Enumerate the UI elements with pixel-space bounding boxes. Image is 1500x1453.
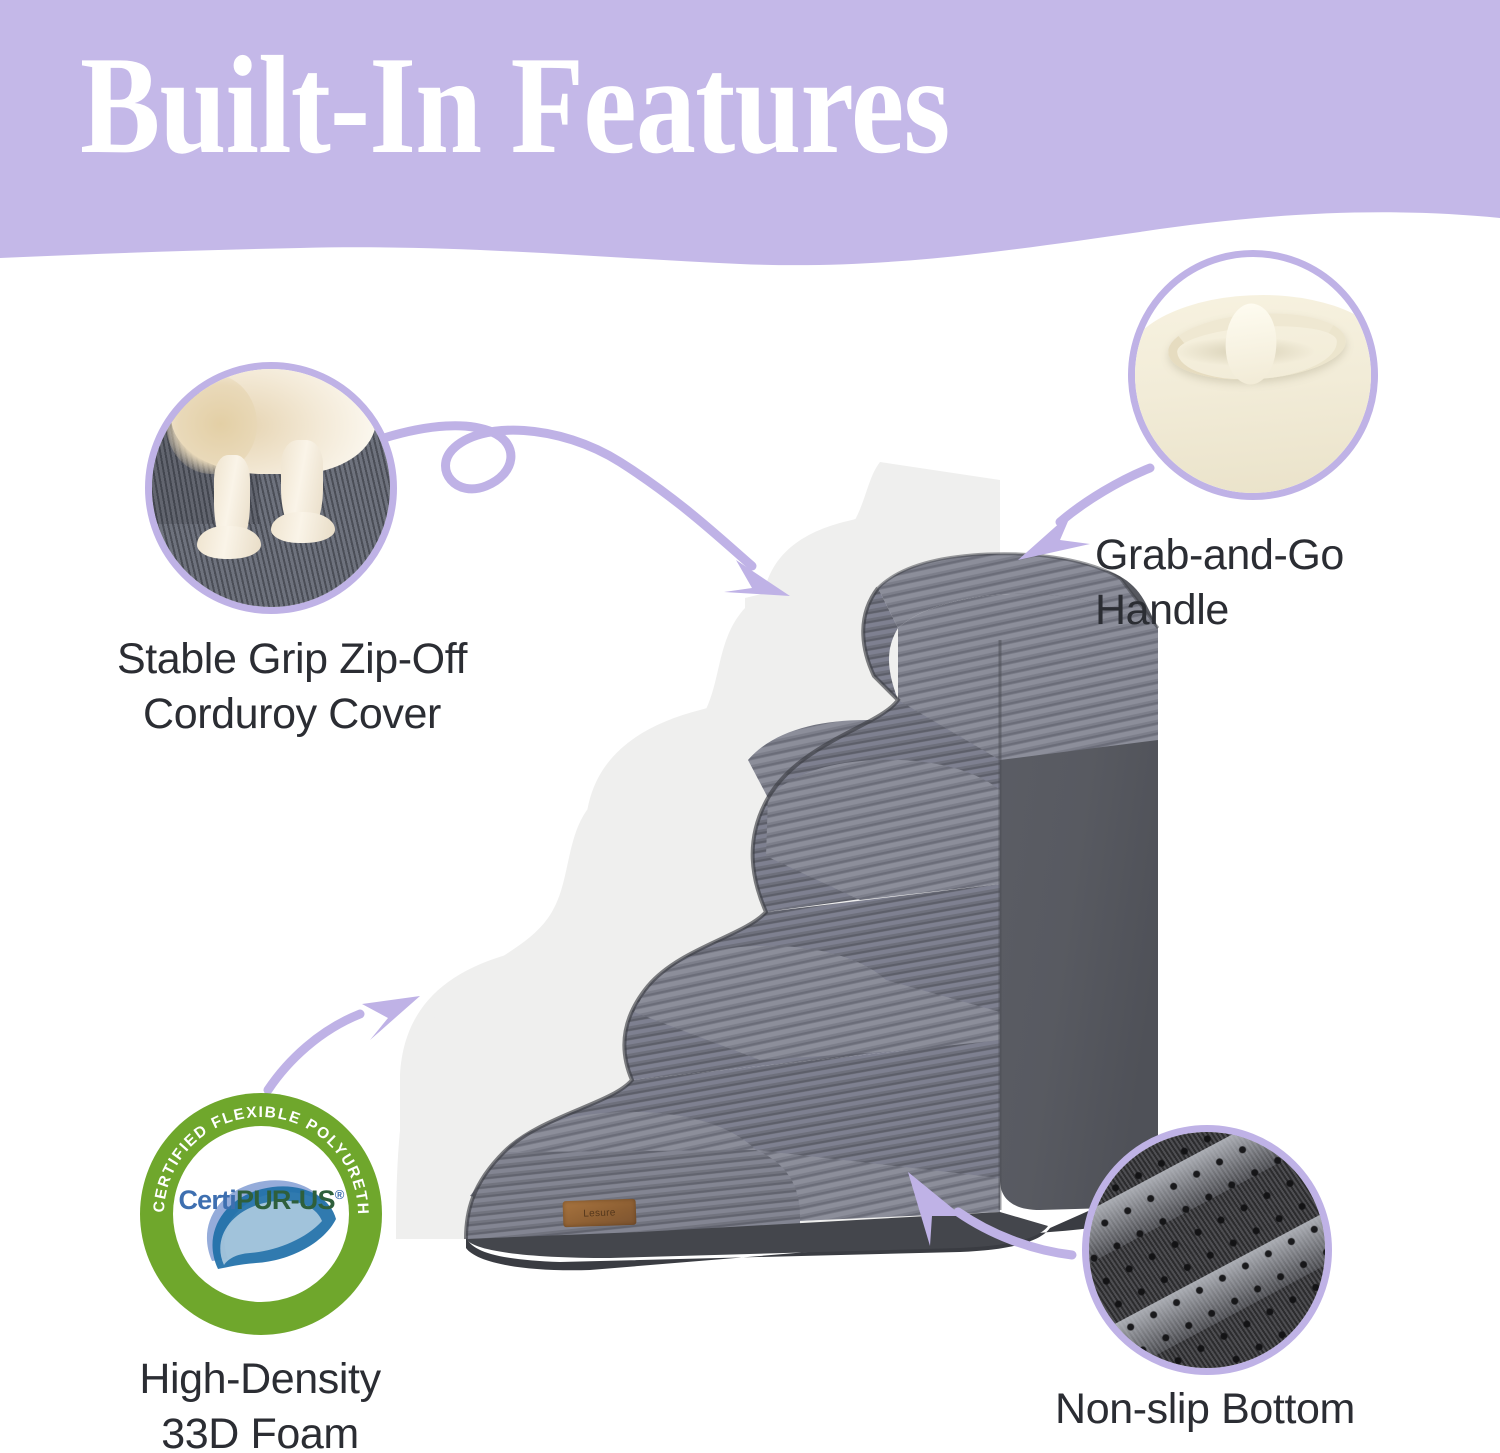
callout-image-stable-grip xyxy=(145,362,397,614)
callout-label-grab-and-go-line1: Grab-and-Go xyxy=(1095,528,1425,583)
badge-registered-mark: ® xyxy=(335,1187,344,1202)
callout-label-high-density-foam-line2: 33D Foam xyxy=(50,1407,470,1453)
badge-wordmark: CertiPUR-US® xyxy=(140,1185,382,1216)
callout-label-stable-grip-line1: Stable Grip Zip-Off xyxy=(57,632,527,687)
callout-label-high-density-foam-line1: High-Density xyxy=(50,1352,470,1407)
badge-wordmark-part1: Certi xyxy=(178,1185,236,1215)
callout-image-grab-and-go xyxy=(1128,250,1378,500)
certipur-us-badge: CONTAINS CERTIFIED FLEXIBLE POLYURETHANE… xyxy=(140,1093,382,1335)
callout-label-high-density-foam: High-Density 33D Foam xyxy=(50,1352,470,1453)
corduroy-photo xyxy=(152,369,390,607)
callout-label-grab-and-go-line2: Handle xyxy=(1095,583,1425,638)
non-slip-grip-dots-icon xyxy=(1082,1125,1332,1375)
infographic-page: Lesure Built-In Features xyxy=(0,0,1500,1453)
callout-label-stable-grip-line2: Corduroy Cover xyxy=(57,687,527,742)
callout-label-grab-and-go: Grab-and-Go Handle xyxy=(1095,528,1425,638)
brand-leather-tag: Lesure xyxy=(563,1199,637,1228)
callout-label-stable-grip: Stable Grip Zip-Off Corduroy Cover xyxy=(57,632,527,742)
dog-front-paw-icon xyxy=(197,526,261,559)
handle-photo xyxy=(1135,257,1371,493)
badge-wordmark-part2: PUR-US xyxy=(236,1185,335,1215)
callout-label-non-slip-bottom-line1: Non-slip Bottom xyxy=(955,1382,1455,1437)
non-slip-photo xyxy=(1089,1132,1325,1368)
callout-image-non-slip-bottom xyxy=(1082,1125,1332,1375)
brand-tag-text: Lesure xyxy=(583,1207,616,1219)
dog-rear-paw-icon xyxy=(271,512,335,543)
page-title: Built-In Features xyxy=(80,36,1026,176)
callout-label-non-slip-bottom: Non-slip Bottom xyxy=(955,1382,1455,1437)
